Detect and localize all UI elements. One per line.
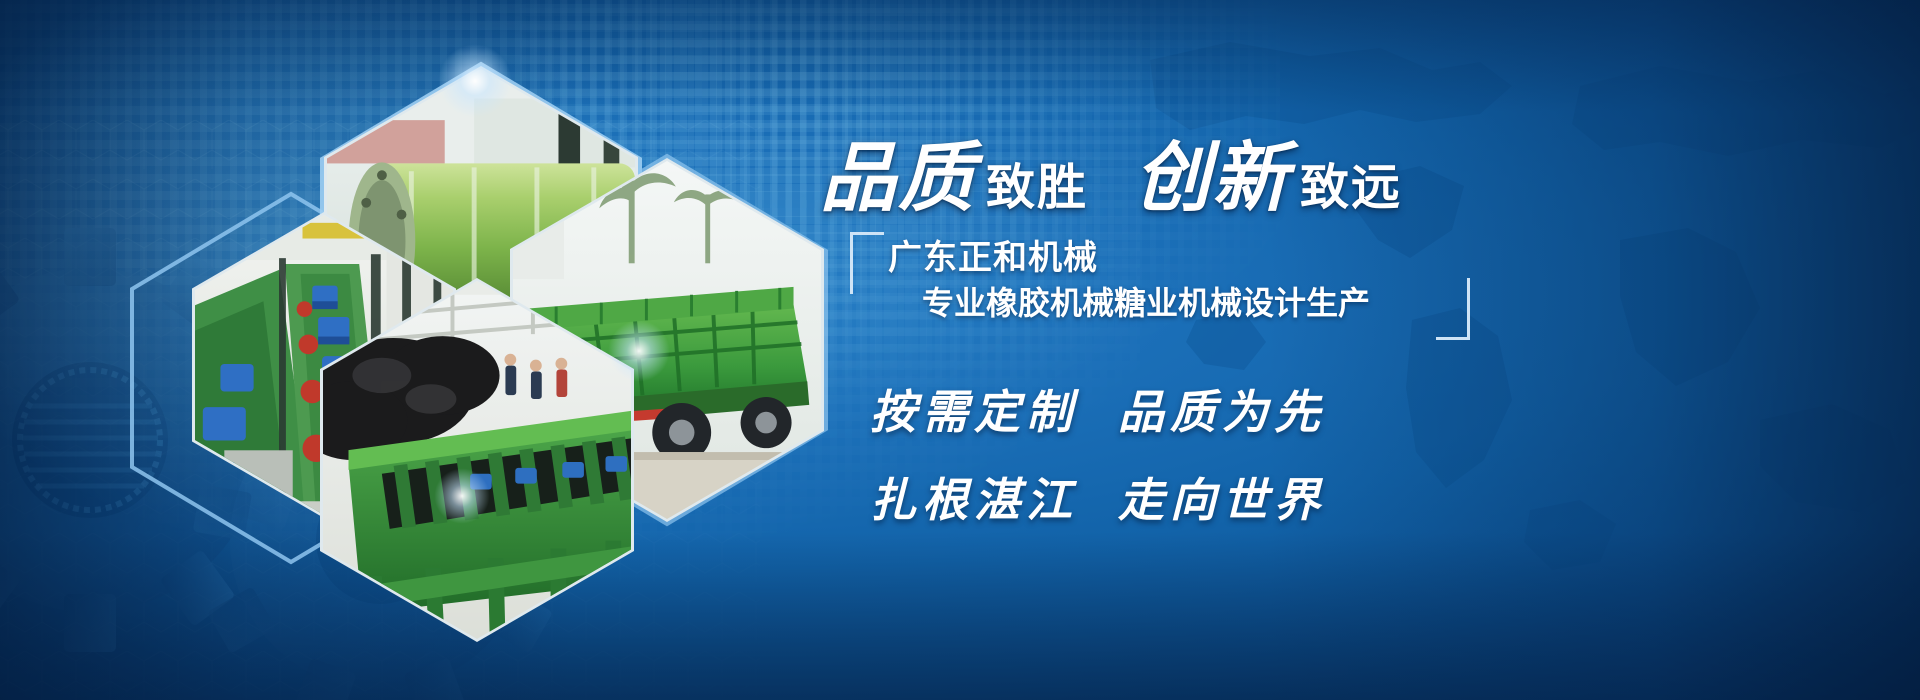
brand-description: 专业橡胶机械糖业机械设计生产: [922, 278, 1370, 324]
slogan-line-1: 按需定制品质为先: [870, 376, 1326, 442]
headline: 品质致胜创新致远: [820, 116, 1408, 226]
banner-copy: 品质致胜创新致远 广东正和机械 专业橡胶机械糖业机械设计生产 按需定制品质为先 …: [1000, 100, 1880, 620]
slogan-2b: 走向世界: [1118, 473, 1326, 527]
slogan-2a: 扎根湛江: [870, 473, 1078, 527]
slogan-1b: 品质为先: [1118, 385, 1326, 439]
brand-name: 广东正和机械: [888, 230, 1098, 279]
promotional-banner: 品质致胜创新致远 广东正和机械 专业橡胶机械糖业机械设计生产 按需定制品质为先 …: [0, 0, 1920, 700]
headline-part1-big: 品质: [820, 116, 976, 226]
hexagon-photo-cluster: [120, 30, 880, 670]
headline-part2-small: 致远: [1290, 148, 1408, 219]
bracket-bottom-right-icon: [1436, 278, 1470, 340]
headline-part1-small: 致胜: [976, 148, 1094, 219]
brand-block: 广东正和机械 专业橡胶机械糖业机械设计生产: [850, 232, 1470, 340]
bracket-top-left-icon: [850, 232, 884, 294]
slogan-1a: 按需定制: [870, 385, 1078, 439]
slogan-line-2: 扎根湛江走向世界: [870, 464, 1326, 530]
headline-part2-big: 创新: [1134, 116, 1290, 226]
slogan-list: 按需定制品质为先 扎根湛江走向世界: [870, 376, 1326, 552]
